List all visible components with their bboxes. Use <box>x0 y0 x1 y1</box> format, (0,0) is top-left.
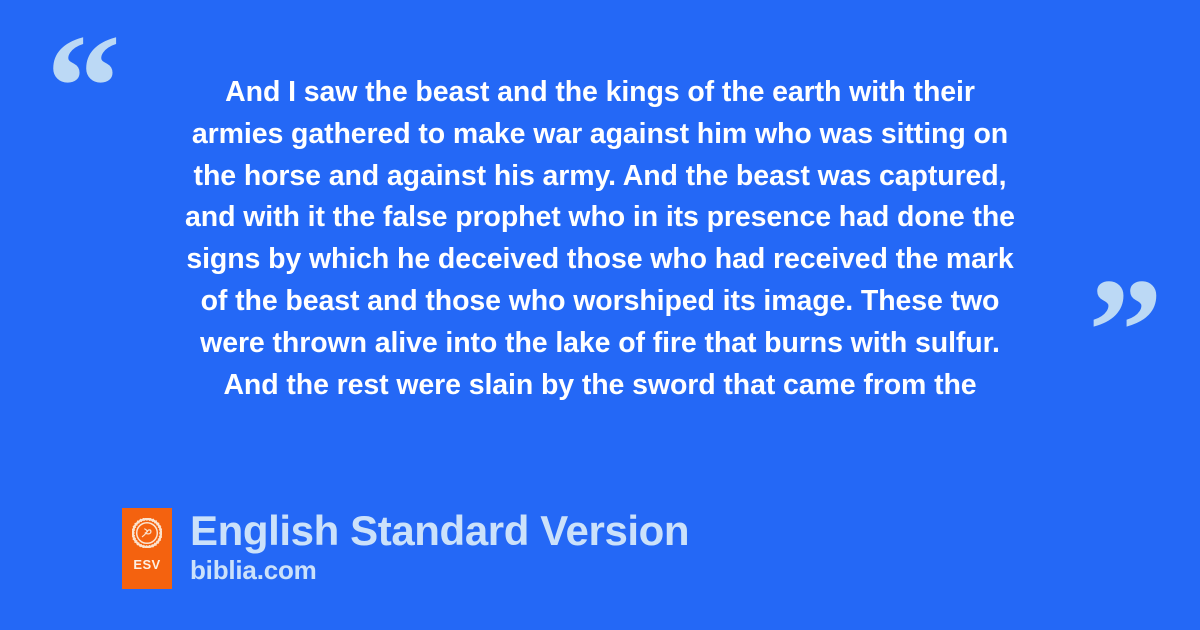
esv-seal-medallion-icon <box>132 518 162 548</box>
closing-quote-icon: ” <box>1088 256 1164 406</box>
esv-badge-label: ESV <box>133 558 160 571</box>
quote-text: And I saw the beast and the kings of the… <box>110 72 1090 406</box>
bible-version-title: English Standard Version <box>190 508 689 554</box>
footer-text-group: English Standard Version biblia.com <box>190 508 689 585</box>
esv-logo-badge: ESV <box>122 508 172 589</box>
footer-attribution: ESV English Standard Version biblia.com <box>122 508 689 589</box>
quote-card: “ And I saw the beast and the kings of t… <box>0 0 1200 630</box>
site-url-label: biblia.com <box>190 555 689 585</box>
quote-block: And I saw the beast and the kings of the… <box>110 72 1090 406</box>
